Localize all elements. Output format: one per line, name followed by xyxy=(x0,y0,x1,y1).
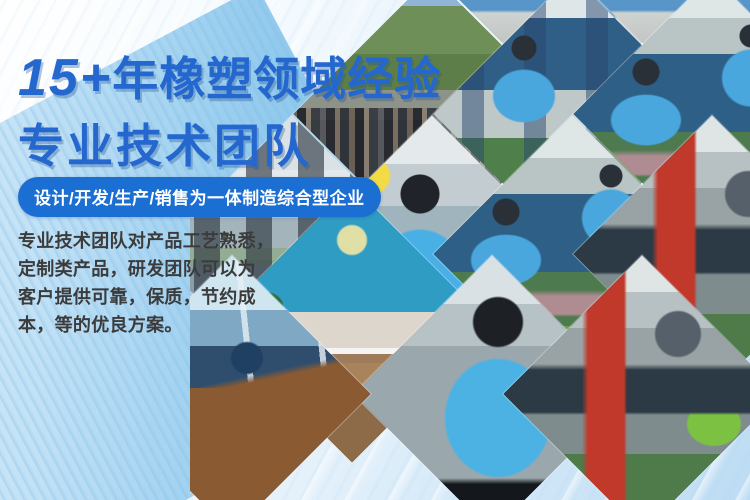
body-line-4: 本，等的优良方案。 xyxy=(18,312,286,340)
body-line-1: 专业技术团队对产品工艺熟悉， xyxy=(18,228,286,256)
promo-banner: 15+年橡塑领域经验 专业技术团队 设计/开发/生产/销售为一体制造综合型企业 … xyxy=(0,0,750,500)
body-line-3: 客户提供可靠，保质，节约成 xyxy=(18,284,286,312)
body-paragraph: 专业技术团队对产品工艺熟悉， 定制类产品，研发团队可以为 客户提供可靠，保质，节… xyxy=(18,228,286,340)
headline-line-1: 15+年橡塑领域经验 xyxy=(18,52,458,104)
headline-line-1-text: 年橡塑领域经验 xyxy=(112,53,441,105)
years-number: 15 xyxy=(18,49,80,107)
banner-text-layer: 15+年橡塑领域经验 专业技术团队 设计/开发/生产/销售为一体制造综合型企业 … xyxy=(0,0,470,500)
headline-line-2: 专业技术团队 xyxy=(18,110,312,176)
business-scope-pill: 设计/开发/生产/销售为一体制造综合型企业 xyxy=(18,177,381,217)
body-line-2: 定制类产品，研发团队可以为 xyxy=(18,256,286,284)
plus-sign: + xyxy=(80,49,112,107)
